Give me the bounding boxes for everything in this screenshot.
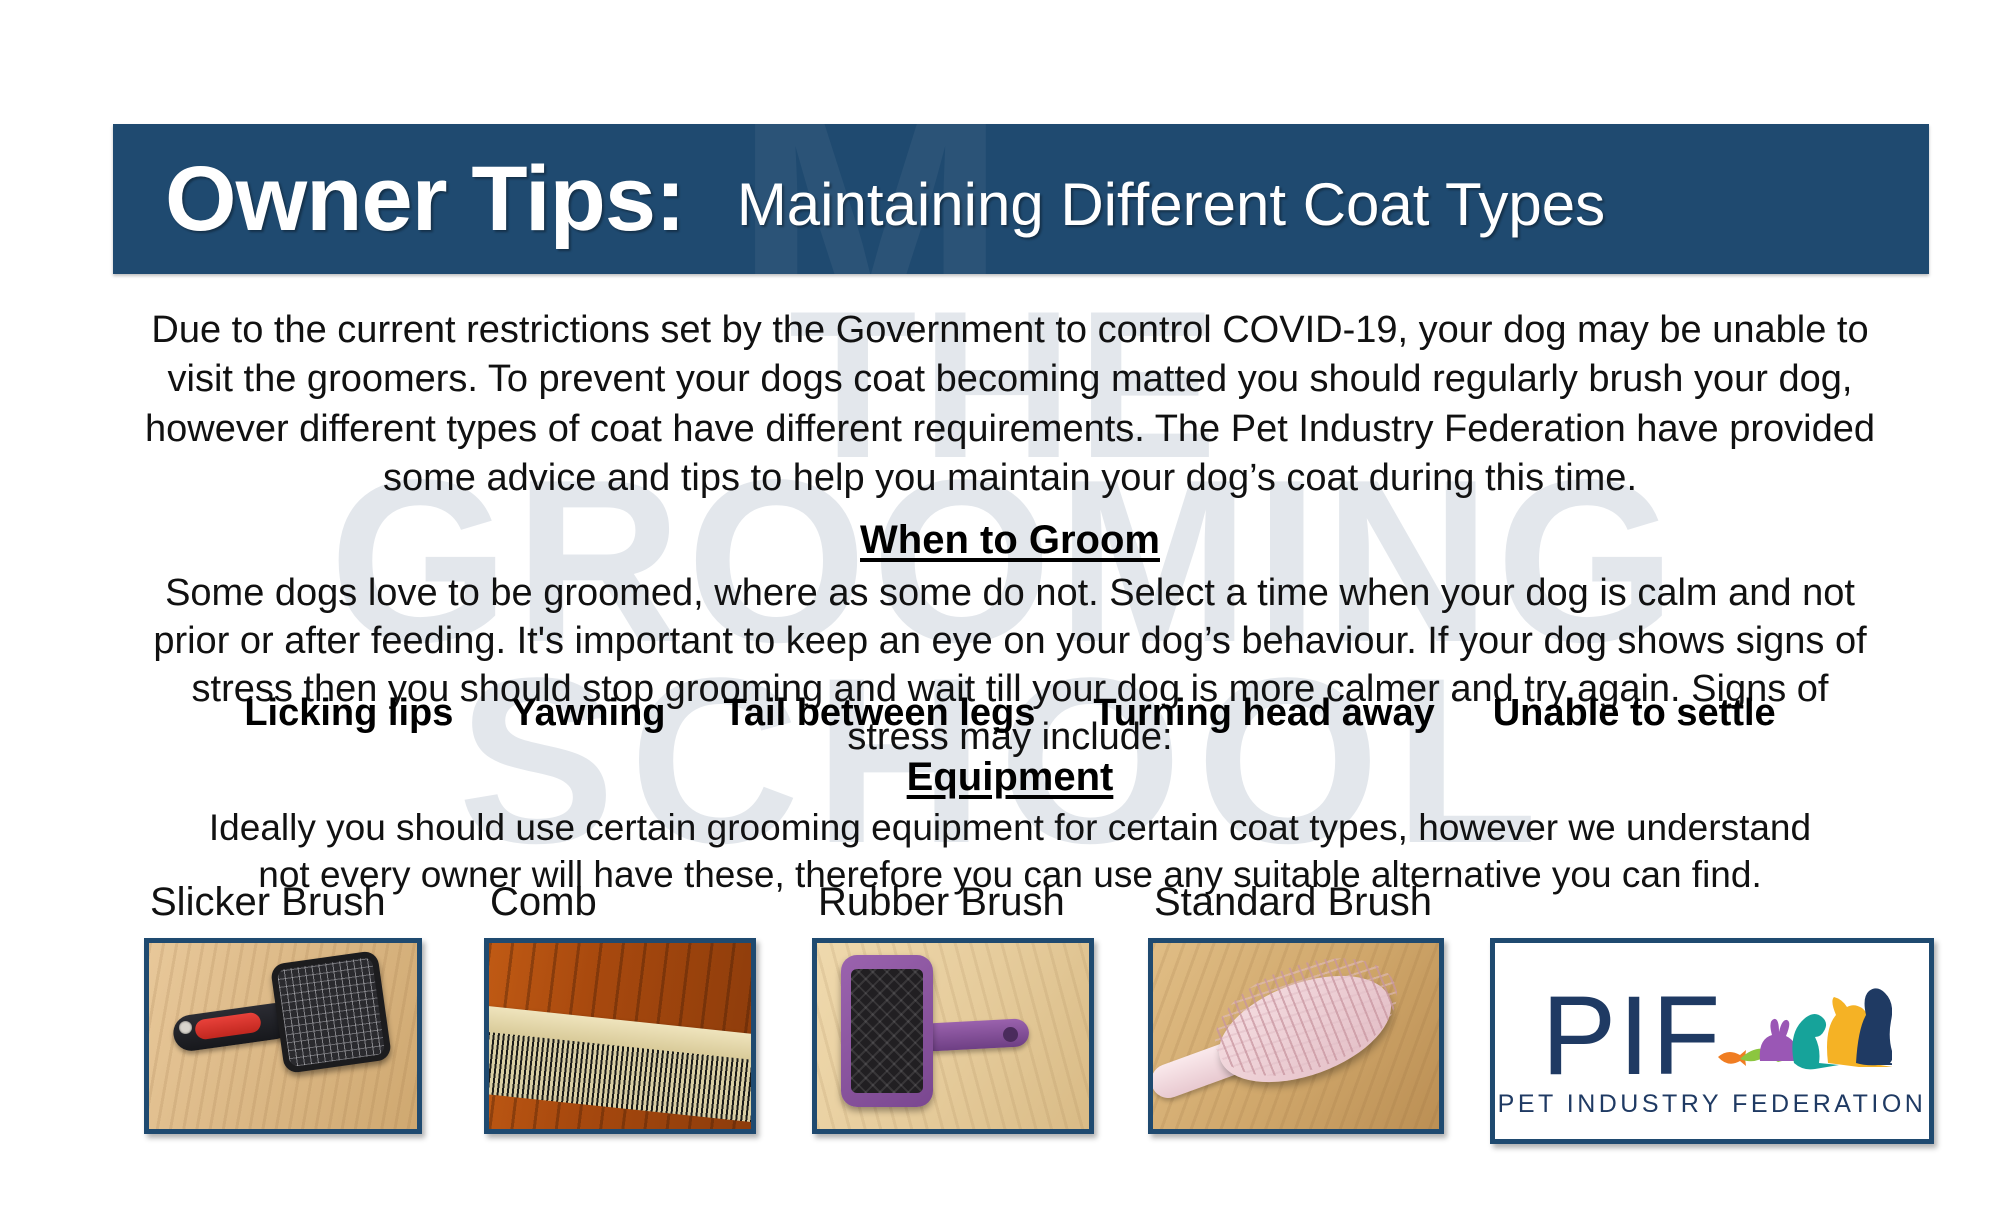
equipment-item-slicker-brush: Slicker Brush: [144, 882, 422, 1134]
equipment-item-standard-brush: Standard Brush: [1148, 882, 1444, 1134]
equipment-item-comb: Comb: [484, 882, 756, 1134]
pif-logo-letters: PIF: [1542, 984, 1723, 1087]
equipment-item-rubber-brush: Rubber Brush: [812, 882, 1094, 1134]
slicker-brush-photo: [144, 938, 422, 1134]
stress-sign-item: Turning head away: [1093, 692, 1434, 735]
stress-sign-item: Licking lips: [244, 692, 453, 735]
equipment-label: Standard Brush: [1148, 882, 1444, 922]
equipment-label: Comb: [484, 882, 756, 922]
section-heading-when-to-groom: When to Groom: [140, 518, 1880, 563]
standard-brush-photo: [1148, 938, 1444, 1134]
header-banner: M Owner Tips: Maintaining Different Coat…: [113, 124, 1929, 274]
pif-logo-caption: PET INDUSTRY FEDERATION: [1498, 1090, 1927, 1119]
pif-logo: PIF: [1490, 938, 1934, 1144]
page-title: Owner Tips:: [165, 147, 685, 252]
stress-sign-item: Tail between legs: [724, 692, 1036, 735]
page-subtitle: Maintaining Different Coat Types: [737, 170, 1605, 239]
intro-paragraph: Due to the current restrictions set by t…: [140, 306, 1880, 504]
brush-head: [270, 950, 392, 1074]
pif-animal-silhouettes-icon: [1716, 965, 1892, 1082]
poster-page: THE GROOMING SCHOOL M Owner Tips: Mainta…: [0, 0, 2010, 1210]
stress-sign-item: Unable to settle: [1493, 692, 1776, 735]
equipment-label: Rubber Brush: [812, 882, 1094, 922]
equipment-label: Slicker Brush: [144, 882, 422, 922]
section-heading-equipment: Equipment: [140, 755, 1880, 800]
rubber-brush-photo: [812, 938, 1094, 1134]
comb-photo: [484, 938, 756, 1134]
rubber-pad: [851, 969, 923, 1093]
brush-hanging-hole: [1003, 1027, 1018, 1042]
stress-sign-item: Yawning: [511, 692, 665, 735]
brush-pins: [277, 957, 386, 1067]
brush-hanging-hole: [179, 1021, 192, 1034]
brush-head: [841, 955, 933, 1107]
stress-signs-list: Licking lips Yawning Tail between legs T…: [140, 692, 1880, 735]
